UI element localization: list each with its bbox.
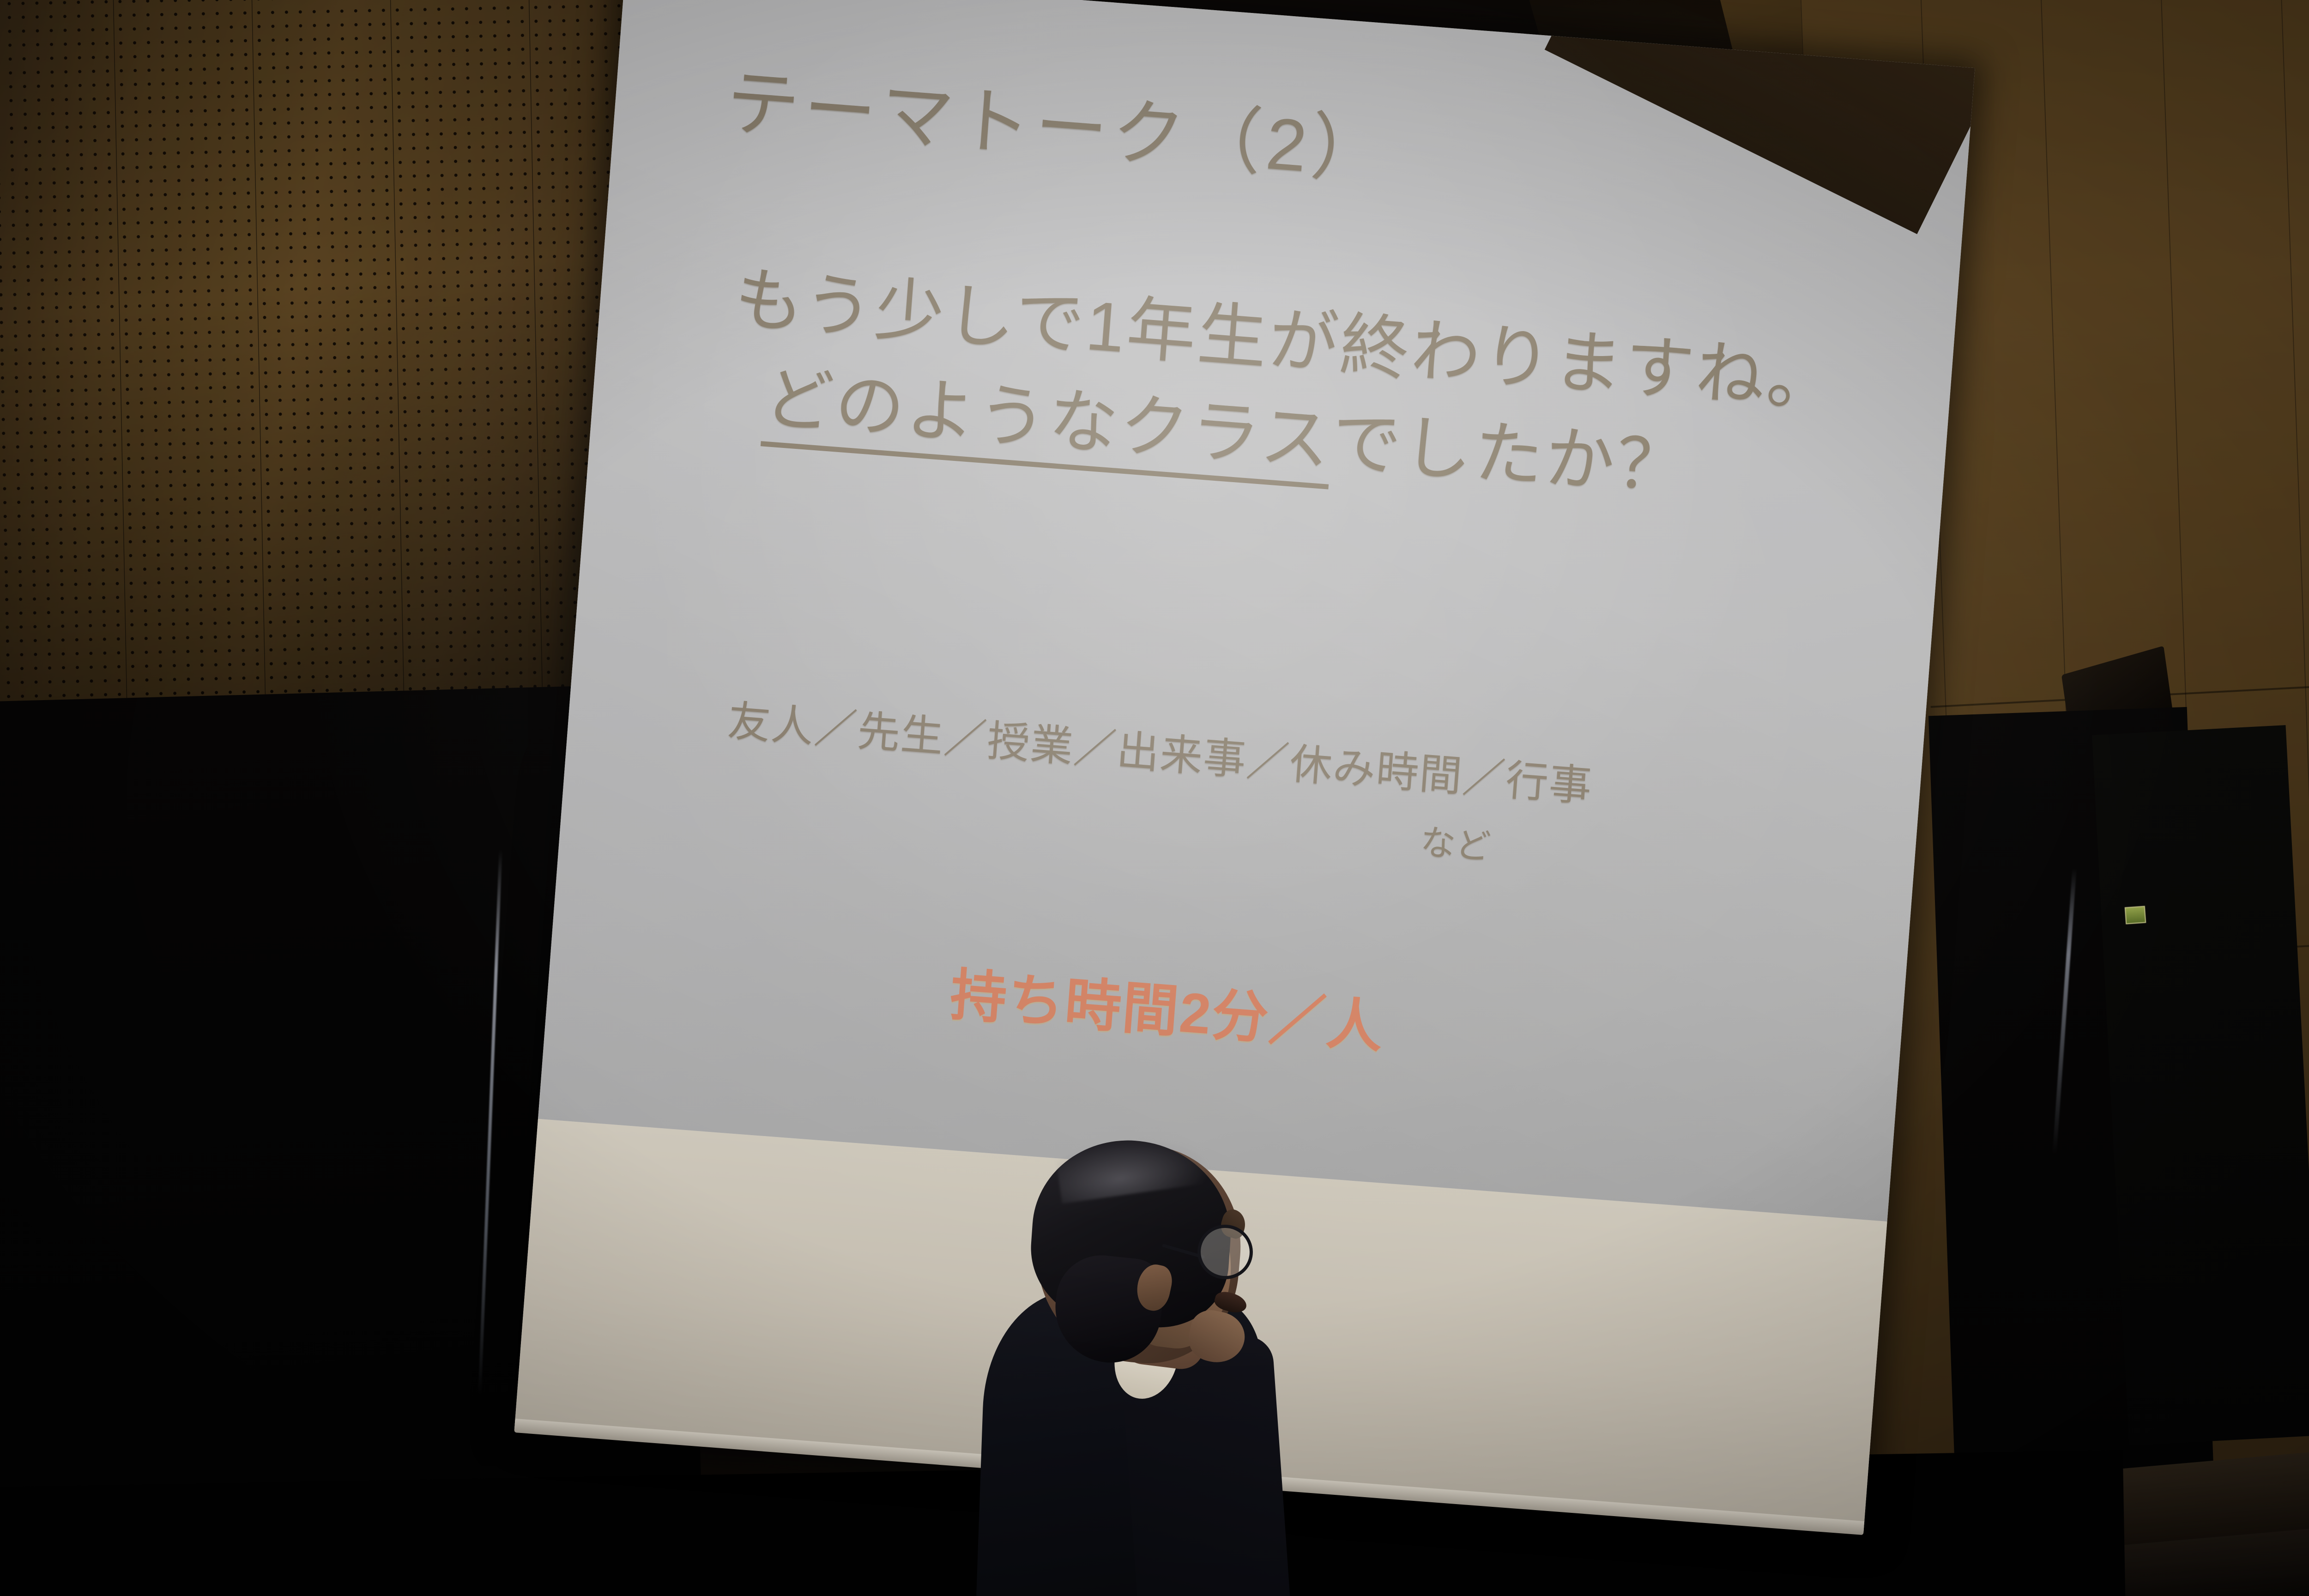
slide-topics-line: 友人／先生／授業／出来事／休み時間／行事 — [726, 687, 1595, 814]
exit-sign-icon — [2125, 906, 2146, 925]
projected-slide: テーマトーク（2） もう少しで1年生が終わりますね。 どのようなクラスでしたか？… — [538, 0, 1975, 1221]
slide-etc-label: など — [1419, 813, 1493, 869]
slide-content: テーマトーク（2） もう少しで1年生が終わりますね。 どのようなクラスでしたか？… — [538, 0, 1975, 1221]
projection-screen: テーマトーク（2） もう少しで1年生が終わりますね。 どのようなクラスでしたか？… — [514, 0, 1975, 1532]
slide-question-rest-part: でしたか？ — [1329, 402, 1691, 507]
slide-question-underlined-part: どのようなクラス — [761, 359, 1335, 490]
slide-time-limit: 持ち時間2分／人 — [948, 949, 1387, 1064]
side-doorway — [2092, 725, 2309, 1445]
acoustic-wall-shading — [0, 0, 672, 745]
slide-title: テーマトーク（2） — [723, 43, 1393, 199]
lecture-hall-photo: テーマトーク（2） もう少しで1年生が終わりますね。 どのようなクラスでしたか？… — [0, 0, 2309, 1596]
